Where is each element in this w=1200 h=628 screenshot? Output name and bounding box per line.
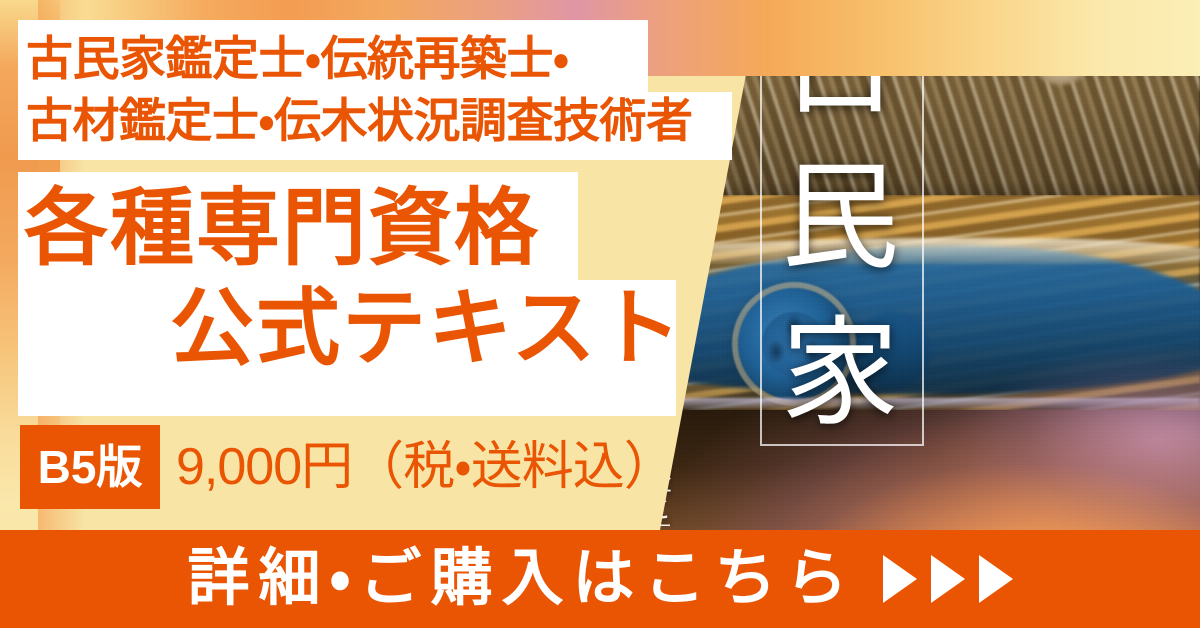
promo-banner: 古 民 家 伝統構法、古民家活用のための調査と再生の 古民家鑑定士・伝統再築士・…	[0, 0, 1200, 628]
cta-label: 詳細・ご購入はこちら	[187, 548, 856, 610]
format-badge: B5版	[20, 425, 160, 509]
certifications-line-2: 古材鑑定士・伝木状況調査技術者	[26, 90, 732, 152]
headline-line-1: 各種専門資格	[24, 186, 540, 270]
certifications-text-block: 古民家鑑定士・伝統再築士・ 古材鑑定士・伝木状況調査技術者	[18, 20, 732, 160]
chevron-right-icon	[883, 555, 917, 603]
chevron-right-icon	[931, 555, 965, 603]
price-row: B5版 9,000円（税・送料込）	[20, 425, 675, 509]
chevron-right-icon	[979, 555, 1013, 603]
certifications-line-1: 古民家鑑定士・伝統再築士・	[26, 28, 732, 90]
cover-title-char-2: 民	[781, 160, 899, 278]
cover-title-char-3: 家	[781, 316, 899, 434]
cta-arrows	[883, 555, 1013, 603]
headline-line-2: 公式テキスト	[170, 286, 683, 370]
price-amount: 9,000円（税・送料込）	[176, 441, 675, 493]
cta-bar[interactable]: 詳細・ご購入はこちら	[0, 530, 1200, 628]
